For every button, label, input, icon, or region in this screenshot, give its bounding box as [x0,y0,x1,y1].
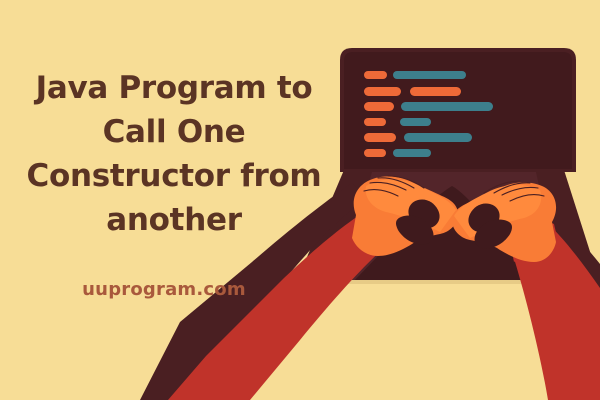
code-token-orange [364,118,386,126]
code-token-orange [364,133,396,142]
code-token-blue [393,149,431,157]
laptop-typing-illustration [0,0,600,400]
code-token-orange [364,149,386,157]
poster-canvas: Java Program to Call One Constructor fro… [0,0,600,400]
code-token-blue [393,71,466,79]
code-token-orange [364,102,394,111]
code-token-orange [410,87,461,96]
code-token-blue [401,102,493,111]
code-token-orange [364,71,387,79]
code-token-orange [364,87,401,96]
code-token-blue [400,118,431,126]
code-token-blue [404,133,472,142]
